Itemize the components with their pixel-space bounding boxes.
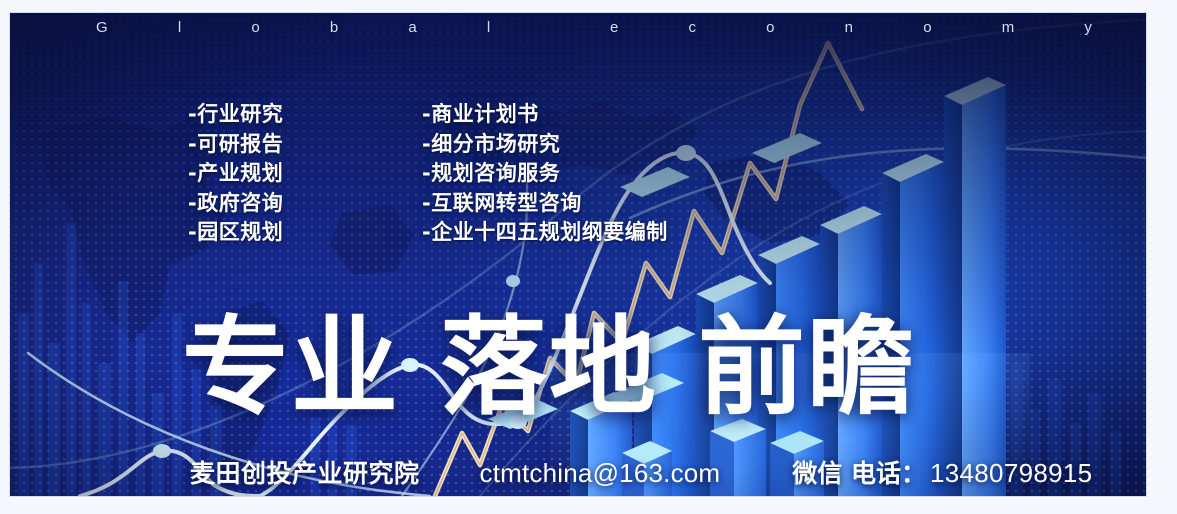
header-text-economy: e c o n o m y xyxy=(610,19,1125,36)
service-list-right: -商业计划书 -细分市场研究 -规划咨询服务 -互联网转型咨询 -企业十四五规划… xyxy=(422,100,668,248)
footer-contact-bar: 麦田创投产业研究院 ctmtchina@163.com 微信 电话： 13480… xyxy=(190,454,1092,490)
service-item: -商业计划书 xyxy=(422,100,668,130)
service-item: -规划咨询服务 xyxy=(422,159,668,189)
main-slogan: 专业落地前瞻 xyxy=(182,309,916,427)
wechat-phone-label: 微信 电话： xyxy=(792,454,926,490)
service-list-left: -行业研究 -可研报告 -产业规划 -政府咨询 -园区规划 xyxy=(188,100,283,248)
service-item: -行业研究 xyxy=(188,100,283,130)
organization-name: 麦田创投产业研究院 xyxy=(190,454,420,490)
banner-root: G l o b a l e c o n o m y -行业研究 -可研报告 -产… xyxy=(0,0,1177,514)
service-item: -互联网转型咨询 xyxy=(422,189,668,219)
service-item: -企业十四五规划纲要编制 xyxy=(422,218,668,248)
service-item: -园区规划 xyxy=(188,218,283,248)
service-item: -政府咨询 xyxy=(188,189,283,219)
slogan-word-1: 专业 xyxy=(182,306,400,430)
banner-stage: G l o b a l e c o n o m y -行业研究 -可研报告 -产… xyxy=(10,13,1146,496)
service-item: -细分市场研究 xyxy=(422,130,668,160)
contact-email[interactable]: ctmtchina@163.com xyxy=(480,458,721,489)
contact-phone[interactable]: 13480798915 xyxy=(930,458,1092,489)
header-text-global: G l o b a l xyxy=(96,19,523,36)
slogan-word-3: 前瞻 xyxy=(698,306,916,430)
service-item: -可研报告 xyxy=(188,130,283,160)
slogan-word-2: 落地 xyxy=(440,306,658,430)
service-item: -产业规划 xyxy=(188,159,283,189)
